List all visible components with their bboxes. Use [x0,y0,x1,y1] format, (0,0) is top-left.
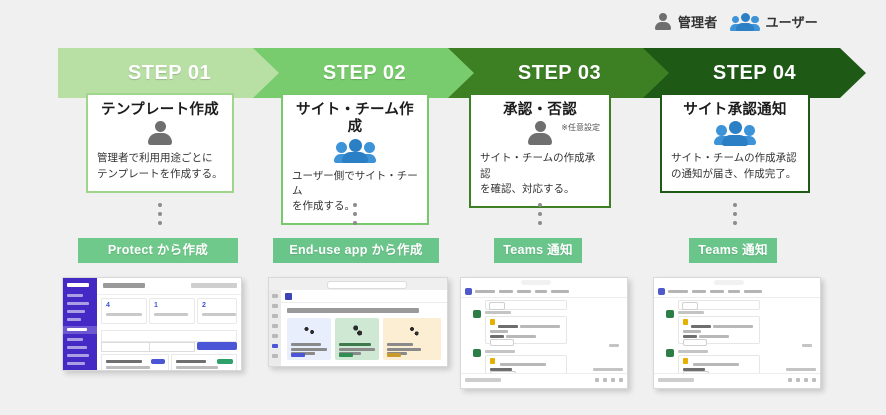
thumb-message [678,300,760,310]
step-card-title-1: テンプレート作成 [97,102,223,119]
thumb-app-rail [269,290,281,366]
legend-label-admin: 管理者 [678,12,718,31]
thumb-app-header [281,290,447,303]
legend-item-user: ユーザー [731,12,818,31]
source-pill-2: End-use app から作成 [273,238,439,263]
thumb-message [678,316,760,344]
legend: 管理者 ユーザー [654,12,818,31]
group-icon [335,139,375,163]
dot-connector [538,203,542,225]
legend-item-admin: 管理者 [654,12,718,31]
person-icon [654,13,672,30]
flow-diagram: 管理者 ユーザー STEP 01 STEP 02 STEP 03 STEP 04… [0,0,886,415]
thumb-stat-value: 1 [154,302,158,309]
group-icon [731,13,759,30]
optional-setting-note: ※任意設定 [561,122,600,133]
thumb-stat-card: 1 [149,298,195,324]
thumb-scroll-pill [521,280,551,285]
step-card-iconrow-1 [97,121,223,147]
thumb-page-title [103,283,145,288]
thumb-stat-value: 4 [106,302,110,309]
thumb-sidebar [63,278,97,370]
step-label-1: STEP 01 [58,48,281,98]
thumb-stat-card: 4 [101,298,147,324]
step-card-description-3: サイト・チームの作成承認 を確認、対応する。 [480,151,600,197]
step-label-4: STEP 04 [643,48,866,98]
teams-logo-icon [465,288,472,295]
step-card-iconrow-3: ※任意設定 [480,121,600,147]
thumb-option-card [335,318,379,360]
thumb-message [485,316,567,344]
screenshot-thumbnail-3 [460,277,628,389]
dot-connector [353,203,357,225]
screenshot-thumbnail-1: 4 1 2 [62,277,242,371]
legend-label-user: ユーザー [765,12,818,31]
thumb-stat-card: 2 [197,298,237,324]
step-card-description-4: サイト・チームの作成承認 の通知が届き、作成完了。 [671,151,799,181]
thumb-search [149,342,195,352]
step-card-iconrow-2 [292,139,418,165]
thumb-avatar [473,349,481,357]
teams-logo-icon [658,288,665,295]
thumb-filter-bar [101,330,237,342]
step-card-3: 承認・否認 ※任意設定 サイト・チームの作成承認 を確認、対応する。 [469,93,611,208]
thumb-address-bar [327,281,407,289]
step-label-3: STEP 03 [448,48,671,98]
thumb-avatar [666,310,674,318]
thumb-app-logo [285,293,292,300]
source-pill-4: Teams 通知 [689,238,777,263]
step-card-title-4: サイト承認通知 [671,102,799,119]
person-icon [147,121,173,145]
step-band-1: STEP 01 [58,48,281,98]
dot-connector [733,203,737,225]
dot-connector [158,203,162,225]
thumb-primary-button [197,342,237,350]
thumb-list-card [171,354,237,371]
step-card-4: サイト承認通知 サイト・チームの作成承認 の通知が届き、作成完了。 [660,93,810,193]
thumb-list-card [101,354,169,371]
step-label-2: STEP 02 [253,48,476,98]
thumb-stat-value: 2 [202,302,206,309]
step-card-1: テンプレート作成 管理者で利用用途ごとに テンプレートを作成する。 [86,93,234,193]
group-icon [715,121,755,145]
thumb-avatar [473,310,481,318]
step-card-title-3: 承認・否認 [480,102,600,119]
step-band-2: STEP 02 [253,48,476,98]
thumb-scroll-pill [714,280,744,285]
thumb-message [485,300,567,310]
step-band-4: STEP 04 [643,48,866,98]
source-pill-1: Protect から作成 [78,238,238,263]
step-card-description-1: 管理者で利用用途ごとに テンプレートを作成する。 [97,151,223,181]
screenshot-thumbnail-4 [653,277,821,389]
thumb-avatar [666,349,674,357]
thumb-option-card [383,318,441,360]
step-card-title-2: サイト・チーム作成 [292,102,418,137]
thumb-teams-footer [461,373,627,388]
person-icon [527,121,553,145]
thumb-question-text [287,308,419,313]
thumb-option-card [287,318,331,360]
thumb-teams-footer [654,373,820,388]
thumb-toolbar-icons [191,283,237,288]
source-pill-3: Teams 通知 [494,238,582,263]
step-band-3: STEP 03 [448,48,671,98]
screenshot-thumbnail-2 [268,277,448,367]
step-card-iconrow-4 [671,121,799,147]
